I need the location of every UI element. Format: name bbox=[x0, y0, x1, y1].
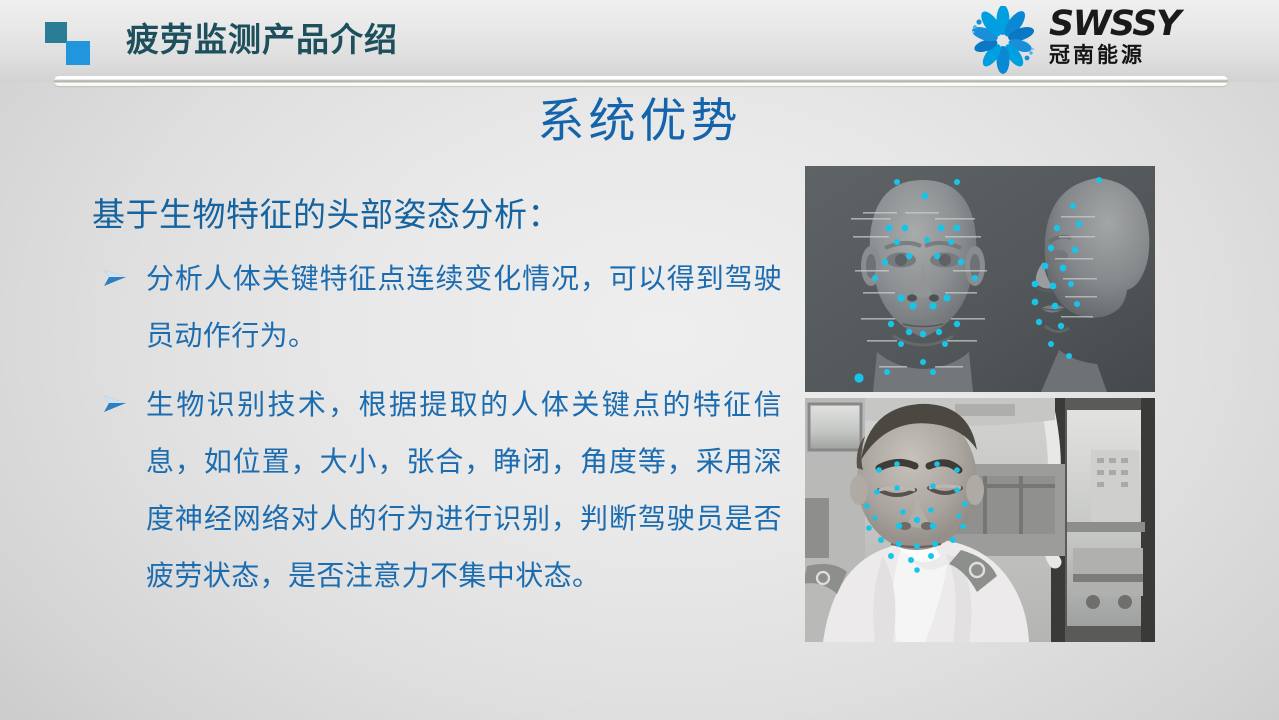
arrow-bullet-icon bbox=[102, 250, 132, 307]
header-title: 疲劳监测产品介绍 bbox=[126, 18, 398, 62]
list-item: 生物识别技术，根据提取的人体关键点的特征信息，如位置，大小，张合，睁闭，角度等，… bbox=[92, 376, 782, 604]
company-logo: SWSSY 冠南能源 bbox=[967, 4, 1217, 76]
list-item-text: 生物识别技术，根据提取的人体关键点的特征信息，如位置，大小，张合，睁闭，角度等，… bbox=[146, 389, 782, 591]
water-droplet-petal-icon bbox=[967, 6, 1039, 74]
list-item: 分析人体关键特征点连续变化情况，可以得到驾驶员动作行为。 bbox=[92, 250, 782, 364]
content-text-column: 基于生物特征的头部姿态分析： 分析人体关键特征点连续变化情况，可以得到驾驶员动作… bbox=[92, 192, 782, 604]
page-title: 系统优势 bbox=[0, 90, 1279, 152]
logo-text-block: SWSSY 冠南能源 bbox=[1049, 6, 1217, 69]
logo-wordmark: SWSSY bbox=[1049, 6, 1217, 42]
decor-square-light-icon bbox=[66, 41, 90, 65]
header-divider bbox=[54, 76, 1228, 86]
logo-subtitle: 冠南能源 bbox=[1049, 43, 1217, 69]
list-item-text: 分析人体关键特征点连续变化情况，可以得到驾驶员动作行为。 bbox=[146, 263, 782, 351]
lead-heading: 基于生物特征的头部姿态分析： bbox=[92, 192, 782, 238]
header-decor-squares bbox=[45, 22, 111, 70]
slide-canvas: 疲劳监测产品介绍 bbox=[0, 0, 1279, 720]
decor-square-dark-icon bbox=[45, 22, 67, 43]
face-landmark-model-image bbox=[805, 166, 1155, 392]
arrow-bullet-icon bbox=[102, 376, 132, 433]
driver-fatigue-detection-photo bbox=[805, 398, 1155, 642]
